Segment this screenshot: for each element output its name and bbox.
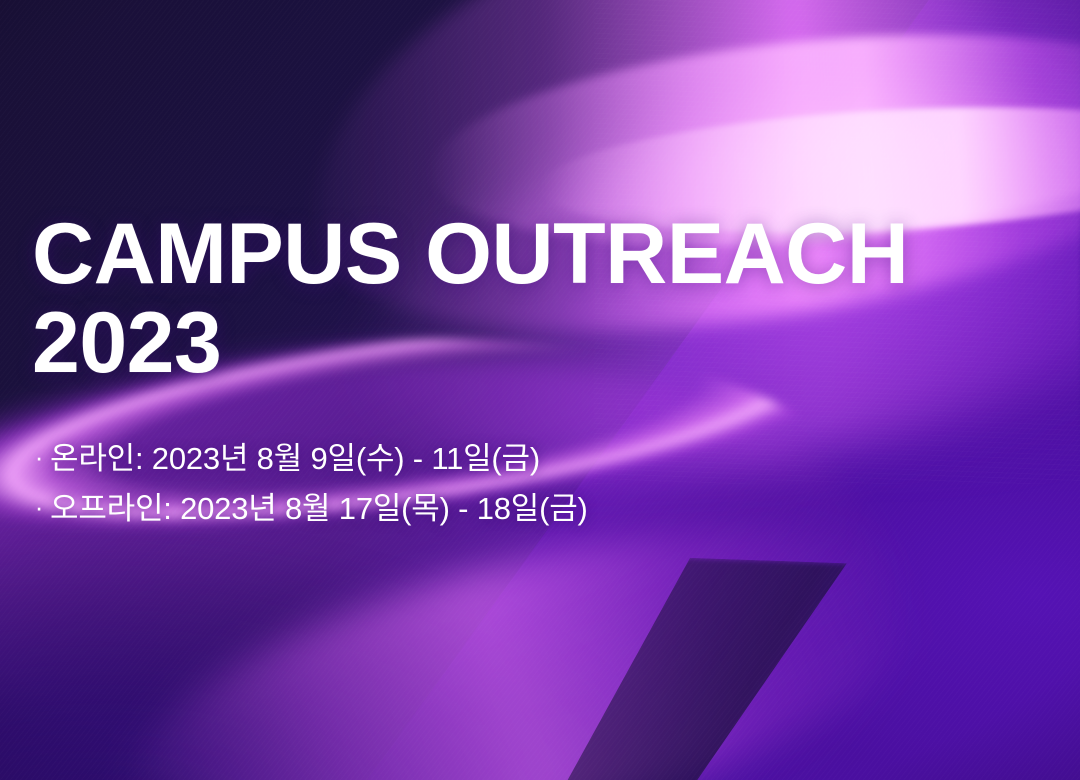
- event-date-list: · 온라인: 2023년 8월 9일(수) - 11일(금) · 오프라인: 2…: [28, 443, 1028, 543]
- campus-outreach-banner: CAMPUS OUTREACH 2023 · 온라인: 2023년 8월 9일(…: [0, 0, 1080, 780]
- offline-schedule-text: 오프라인: 2023년 8월 17일(목) - 18일(금): [50, 493, 588, 524]
- bullet-icon: ·: [28, 444, 50, 470]
- banner-content: CAMPUS OUTREACH 2023 · 온라인: 2023년 8월 9일(…: [32, 0, 1042, 780]
- title-line-year: 2023: [32, 301, 1032, 386]
- title-line-primary: CAMPUS OUTREACH: [32, 212, 1032, 297]
- list-item: · 오프라인: 2023년 8월 17일(목) - 18일(금): [28, 493, 1028, 524]
- online-schedule-text: 온라인: 2023년 8월 9일(수) - 11일(금): [50, 443, 540, 474]
- list-item: · 온라인: 2023년 8월 9일(수) - 11일(금): [28, 443, 1028, 474]
- page-title: CAMPUS OUTREACH 2023: [32, 212, 1032, 386]
- bullet-icon: ·: [28, 494, 50, 520]
